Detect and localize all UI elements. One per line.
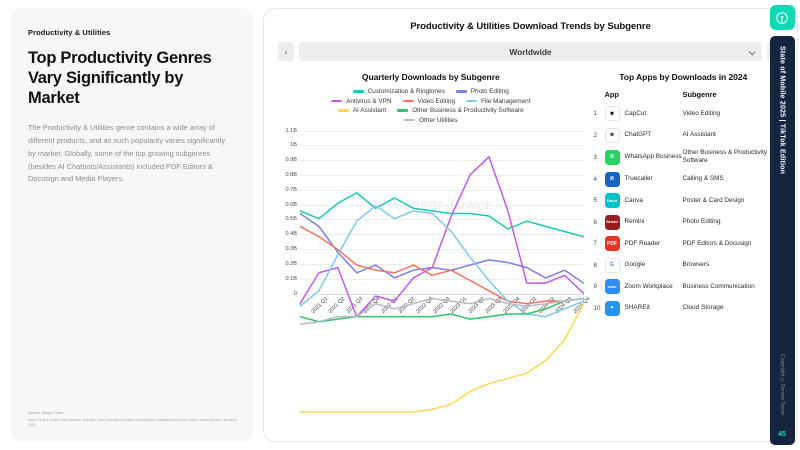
row-rank: 5	[594, 197, 605, 204]
row-app: ReminiRemini	[605, 215, 683, 230]
series-line-video-editing	[300, 226, 584, 303]
row-rank: 9	[594, 283, 605, 290]
chatgpt-icon: ⊚	[605, 128, 620, 143]
y-axis-tick: 1.1B	[285, 128, 297, 134]
row-app: ✆WhatsApp Business	[605, 150, 683, 165]
sensor-tower-logo-icon	[770, 5, 795, 30]
plot-wrapper: 1.1B1B0.9B0.8B0.7B0.6B0.5B0.4B0.3B0.2B0.…	[278, 131, 584, 319]
legend-item-file-management[interactable]: File Management	[466, 98, 530, 105]
y-axis: 1.1B1B0.9B0.8B0.7B0.6B0.5B0.4B0.3B0.2B0.…	[278, 131, 300, 294]
row-app: GGoogle	[605, 258, 683, 273]
table-row[interactable]: 5CanvaCanvaPoster & Card Design	[594, 193, 783, 208]
sub-headings: Quarterly Downloads by Subgenre Top Apps…	[278, 72, 783, 82]
page-title: Top Productivity Genres Vary Significant…	[28, 48, 235, 108]
row-app: ⊚ChatGPT	[605, 128, 683, 143]
legend-row: Customization & RingtonesPhoto Editing	[282, 88, 580, 95]
legend-row: Antivirus & VPNVideo EditingFile Managem…	[282, 98, 580, 105]
legend-item-other-business-productivity-software[interactable]: Other Business & Productivity Software	[397, 107, 524, 114]
row-app-name: Remini	[625, 218, 645, 226]
footnote-source: Source: Sensor Tower	[28, 411, 238, 417]
row-app-name: PDF Reader	[625, 240, 661, 248]
series-line-antivirus-vpn	[300, 156, 584, 316]
top-apps-table: App Subgenre 1✖CapCutVideo Editing2⊚Chat…	[584, 88, 783, 431]
y-axis-tick: 0.7B	[285, 187, 297, 193]
table-row[interactable]: 9zoomZoom WorkplaceBusiness Communicatio…	[594, 279, 783, 294]
chart-lines	[300, 131, 584, 415]
google-icon: G	[605, 258, 620, 273]
legend-swatch-icon	[353, 90, 364, 92]
table-row[interactable]: 4✆TruecallerCalling & SMS	[594, 172, 783, 187]
legend-label: Photo Editing	[471, 88, 509, 95]
legend-label: Other Utilities	[419, 117, 457, 124]
row-app-name: Zoom Workplace	[625, 283, 673, 291]
rail-bar: State of Mobile 2025 | TikTok Edition Co…	[770, 36, 795, 445]
y-axis-tick: 0.1B	[285, 276, 297, 282]
deck-copyright: Copyright ©Sensor Tower	[779, 354, 785, 415]
capcut-icon: ✖	[605, 106, 620, 121]
y-axis-tick: 1B	[290, 142, 297, 148]
left-text-panel: Productivity & Utilities Top Productivit…	[10, 8, 253, 442]
table-row[interactable]: 2⊚ChatGPTAI Assistant	[594, 128, 783, 143]
legend-swatch-icon	[397, 109, 408, 111]
chart-card: Productivity & Utilities Download Trends…	[263, 8, 798, 442]
legend-swatch-icon	[456, 90, 467, 92]
panel-eyebrow: Productivity & Utilities	[28, 28, 235, 37]
row-rank: 7	[594, 240, 605, 247]
row-rank: 10	[594, 305, 605, 312]
legend-swatch-icon	[404, 119, 415, 121]
table-row[interactable]: 7PDFPDF ReaderPDF Editors & Docusign	[594, 236, 783, 251]
row-rank: 4	[594, 176, 605, 183]
row-rank: 2	[594, 132, 605, 139]
market-dropdown[interactable]: Worldwide	[299, 42, 762, 61]
whatsapp-business-icon: ✆	[605, 150, 620, 165]
table-row[interactable]: 1✖CapCutVideo Editing	[594, 106, 783, 121]
legend-item-antivirus-vpn[interactable]: Antivirus & VPN	[331, 98, 391, 105]
row-app: zoomZoom Workplace	[605, 279, 683, 294]
row-rank: 8	[594, 262, 605, 269]
row-app: ⚭SHAREit	[605, 301, 683, 316]
row-app: PDFPDF Reader	[605, 236, 683, 251]
y-axis-tick: 0	[294, 291, 297, 297]
legend-row: AI AssistantOther Business & Productivit…	[282, 107, 580, 114]
legend-item-video-editing[interactable]: Video Editing	[403, 98, 456, 105]
y-axis-tick: 0.5B	[285, 216, 297, 222]
table-header-row: App Subgenre	[594, 90, 783, 106]
legend-swatch-icon	[466, 100, 477, 102]
prev-market-button[interactable]: ‹	[278, 42, 294, 61]
deck-title: State of Mobile 2025 | TikTok Edition	[779, 46, 786, 174]
row-app: ✆Truecaller	[605, 172, 683, 187]
legend-swatch-icon	[331, 100, 342, 102]
plot-area: Sensor Tower	[300, 131, 584, 294]
row-rank: 6	[594, 219, 605, 226]
row-app: ✖CapCut	[605, 106, 683, 121]
legend-label: Other Business & Productivity Software	[412, 107, 524, 114]
row-rank: 1	[594, 110, 605, 117]
canva-icon: Canva	[605, 193, 620, 208]
row-app-name: Canva	[625, 197, 643, 205]
series-line-customization-ringtones	[300, 192, 584, 236]
headline-line-2: Vary Significantly by Market	[28, 68, 235, 108]
legend-label: AI Assistant	[353, 107, 386, 114]
legend-label: Antivirus & VPN	[346, 98, 391, 105]
legend-row: Other Utilities	[282, 117, 580, 124]
row-app: CanvaCanva	[605, 193, 683, 208]
chart-legend: Customization & RingtonesPhoto EditingAn…	[278, 88, 584, 124]
row-app-name: CapCut	[625, 110, 647, 118]
row-app-name: ChatGPT	[625, 131, 652, 139]
chevron-down-icon	[749, 48, 755, 54]
legend-item-photo-editing[interactable]: Photo Editing	[456, 88, 509, 95]
card-columns: Customization & RingtonesPhoto EditingAn…	[278, 88, 783, 431]
pdf-reader-icon: PDF	[605, 236, 620, 251]
y-axis-tick: 0.6B	[285, 202, 297, 208]
table-row[interactable]: 8GGoogleBrowsers	[594, 258, 783, 273]
legend-item-ai-assistant[interactable]: AI Assistant	[338, 107, 386, 114]
chart-subheading: Quarterly Downloads by Subgenre	[278, 72, 584, 82]
footnote-note: Note: iOS and Google Play combined. Excl…	[28, 418, 238, 428]
page-number: 45	[778, 431, 786, 438]
table-body: 1✖CapCutVideo Editing2⊚ChatGPTAI Assista…	[594, 106, 783, 316]
row-app-name: Truecaller	[625, 175, 653, 183]
shareit-icon: ⚭	[605, 301, 620, 316]
legend-swatch-icon	[338, 109, 349, 111]
y-axis-tick: 0.3B	[285, 246, 297, 252]
legend-label: Customization & Ringtones	[368, 88, 445, 95]
y-axis-tick: 0.4B	[285, 231, 297, 237]
table-row[interactable]: 3✆WhatsApp BusinessOther Business & Prod…	[594, 149, 783, 165]
footnotes: Source: Sensor Tower Note: iOS and Googl…	[28, 411, 238, 428]
table-subheading: Top Apps by Downloads in 2024	[584, 72, 783, 82]
col-header-rank	[594, 90, 605, 99]
chart-card-title: Productivity & Utilities Download Trends…	[278, 21, 783, 32]
row-app-name: Google	[625, 261, 646, 269]
table-row[interactable]: 10⚭SHAREitCloud Storage	[594, 301, 783, 316]
legend-label: File Management	[481, 98, 530, 105]
col-header-app: App	[605, 90, 683, 99]
market-selector-row: ‹ Worldwide ›	[278, 42, 783, 61]
table-row[interactable]: 6ReminiReminiPhoto Editing	[594, 215, 783, 230]
truecaller-icon: ✆	[605, 172, 620, 187]
row-app-name: WhatsApp Business	[625, 153, 682, 161]
y-axis-tick: 0.2B	[285, 261, 297, 267]
remini-icon: Remini	[605, 215, 620, 230]
y-axis-tick: 0.9B	[285, 157, 297, 163]
series-line-ai-assistant	[300, 303, 584, 411]
y-axis-tick: 0.8B	[285, 172, 297, 178]
legend-item-other-utilities[interactable]: Other Utilities	[404, 117, 457, 124]
row-app-name: SHAREit	[625, 304, 650, 312]
chart-column: Customization & RingtonesPhoto EditingAn…	[278, 88, 584, 431]
slide-root: Productivity & Utilities Top Productivit…	[0, 0, 800, 450]
legend-label: Video Editing	[418, 98, 456, 105]
market-dropdown-value: Worldwide	[509, 47, 551, 57]
headline-line-1: Top Productivity Genres	[28, 48, 235, 68]
panel-body-text: The Productivity & Utilities genre conta…	[28, 122, 234, 186]
zoom-icon: zoom	[605, 279, 620, 294]
legend-swatch-icon	[403, 100, 414, 102]
legend-item-customization-ringtones[interactable]: Customization & Ringtones	[353, 88, 445, 95]
right-rail: State of Mobile 2025 | TikTok Edition Co…	[764, 0, 800, 450]
row-rank: 3	[594, 154, 605, 161]
